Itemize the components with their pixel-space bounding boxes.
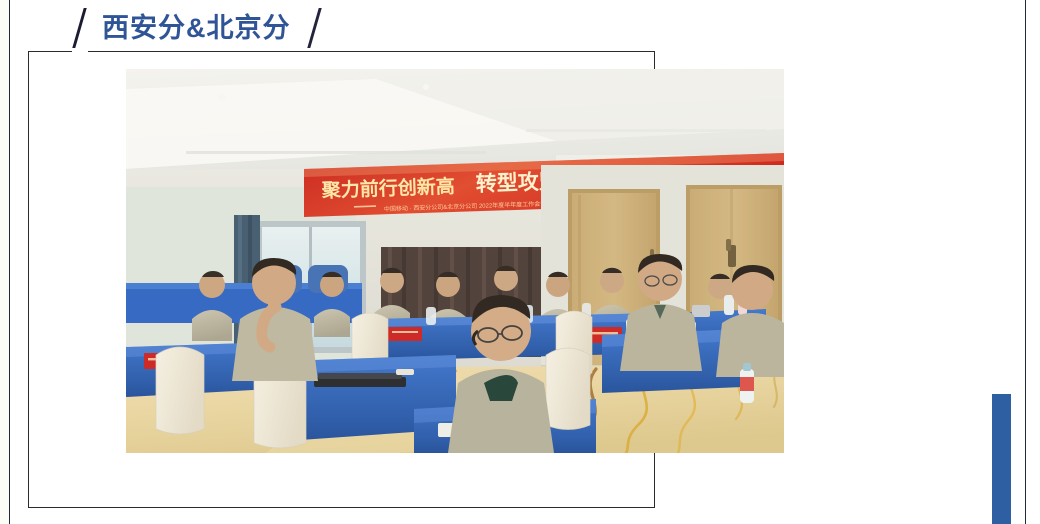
leading-slash-icon <box>70 8 88 48</box>
slide-canvas: 西安分&北京分 <box>0 0 1040 524</box>
left-page-rule <box>9 0 10 524</box>
slide-heading: 西安分&北京分 <box>70 2 323 54</box>
meeting-photo: 聚力前行创新高 转型攻坚绘新篇 中国移动 · 西安分公司&北京分公司 2022年… <box>126 69 784 453</box>
right-accent-bar <box>992 394 1011 524</box>
left-page-tint <box>0 0 9 524</box>
trailing-slash-icon <box>305 8 323 48</box>
page-title: 西安分&北京分 <box>102 15 291 42</box>
frame-top-gap <box>72 50 88 53</box>
right-page-rule <box>1025 0 1026 524</box>
